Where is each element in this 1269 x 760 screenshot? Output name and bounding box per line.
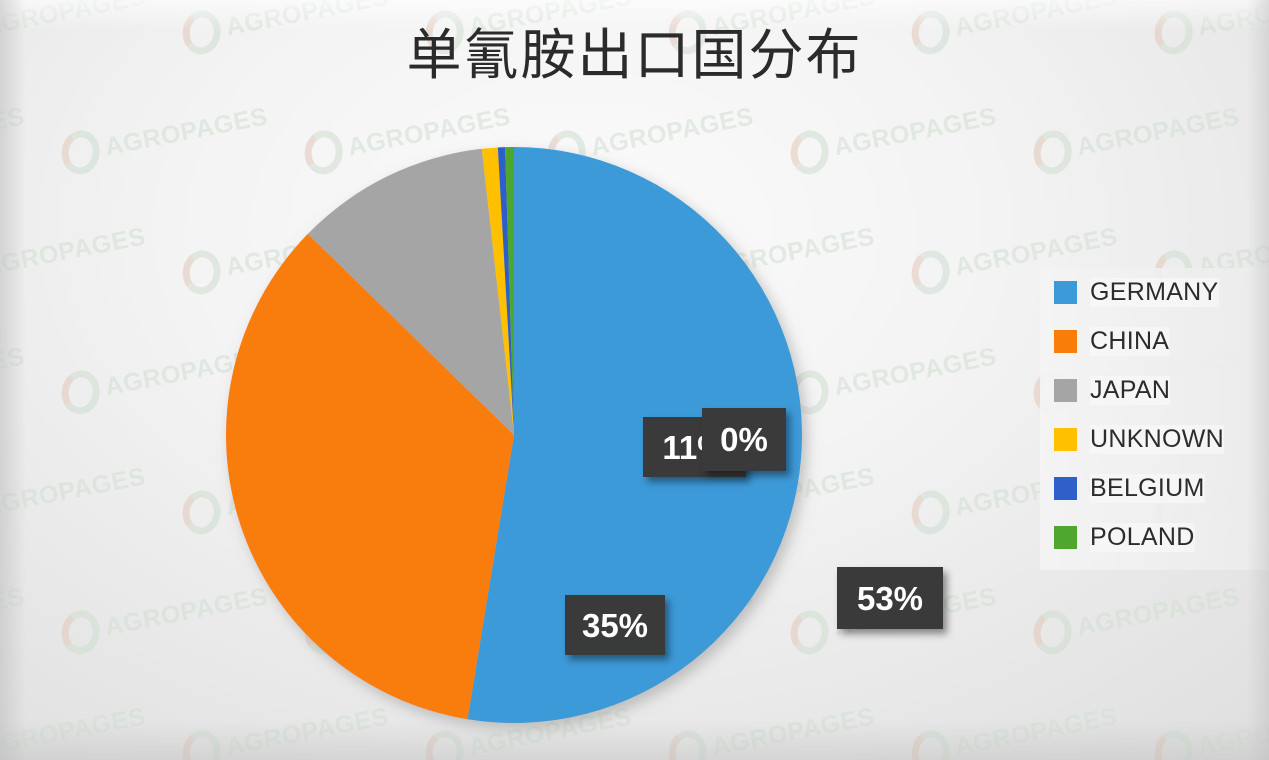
agropages-logo-icon xyxy=(180,728,223,760)
agropages-logo-icon xyxy=(59,128,102,176)
agropages-logo-icon xyxy=(59,608,102,656)
watermark-text: AGROPAGES xyxy=(1074,102,1242,162)
legend-label: GERMANY xyxy=(1090,278,1219,307)
watermark-text: AGROPAGES xyxy=(1074,582,1242,642)
data-label-china: 35% xyxy=(565,595,665,655)
legend-swatch-icon xyxy=(1054,281,1077,304)
legend-swatch-icon xyxy=(1054,526,1077,549)
watermark: AGROPAGES xyxy=(0,94,29,177)
watermark-text: AGROPAGES xyxy=(0,342,27,402)
agropages-logo-icon xyxy=(1031,608,1074,656)
legend-label: CHINA xyxy=(1090,327,1169,356)
agropages-logo-icon xyxy=(909,248,952,296)
data-label-unknown: 0% xyxy=(702,408,786,471)
legend-label: JAPAN xyxy=(1090,376,1170,405)
legend-label: BELGIUM xyxy=(1090,474,1205,503)
watermark: AGROPAGES xyxy=(787,334,1001,417)
agropages-logo-icon xyxy=(180,488,223,536)
legend-item-poland[interactable]: POLAND xyxy=(1040,513,1269,562)
agropages-logo-icon xyxy=(1031,128,1074,176)
watermark-text: AGROPAGES xyxy=(0,582,27,642)
legend-swatch-icon xyxy=(1054,330,1077,353)
watermark: AGROPAGES xyxy=(0,454,150,537)
watermark: AGROPAGES xyxy=(0,694,150,760)
legend-swatch-icon xyxy=(1054,379,1077,402)
watermark: AGROPAGES xyxy=(0,574,29,657)
legend-swatch-icon xyxy=(1054,428,1077,451)
watermark: AGROPAGES xyxy=(1030,574,1244,657)
watermark-text: AGROPAGES xyxy=(0,462,148,522)
legend-label: POLAND xyxy=(1090,523,1195,552)
watermark-text: AGROPAGES xyxy=(831,102,999,162)
agropages-logo-icon xyxy=(59,368,102,416)
watermark-text: AGROPAGES xyxy=(0,102,27,162)
legend-item-unknown[interactable]: UNKNOWN xyxy=(1040,415,1269,464)
legend-label: UNKNOWN xyxy=(1090,425,1224,454)
legend-item-belgium[interactable]: BELGIUM xyxy=(1040,464,1269,513)
agropages-logo-icon xyxy=(180,248,223,296)
watermark-text: AGROPAGES xyxy=(0,702,148,760)
agropages-logo-icon xyxy=(909,728,952,760)
chart-legend: GERMANYCHINAJAPANUNKNOWNBELGIUMPOLAND xyxy=(1040,268,1269,570)
watermark: AGROPAGES xyxy=(0,334,29,417)
pie-chart: 11% 0% 35% 53% xyxy=(224,145,804,725)
data-label-germany: 53% xyxy=(837,567,943,629)
watermark-text: AGROPAGES xyxy=(952,702,1120,760)
agropages-logo-icon xyxy=(423,728,466,760)
watermark-text: AGROPAGES xyxy=(1195,702,1269,760)
watermark: AGROPAGES xyxy=(787,94,1001,177)
chart-canvas: AGROPAGESAGROPAGESAGROPAGESAGROPAGESAGRO… xyxy=(0,0,1269,760)
chart-title: 单氰胺出口国分布 xyxy=(0,22,1269,88)
watermark: AGROPAGES xyxy=(908,694,1122,760)
legend-item-china[interactable]: CHINA xyxy=(1040,317,1269,366)
agropages-logo-icon xyxy=(1152,728,1195,760)
legend-item-japan[interactable]: JAPAN xyxy=(1040,366,1269,415)
legend-swatch-icon xyxy=(1054,477,1077,500)
watermark: AGROPAGES xyxy=(0,214,150,297)
watermark-text: AGROPAGES xyxy=(831,342,999,402)
watermark: AGROPAGES xyxy=(1151,694,1269,760)
watermark: AGROPAGES xyxy=(1030,94,1244,177)
legend-item-germany[interactable]: GERMANY xyxy=(1040,268,1269,317)
agropages-logo-icon xyxy=(666,728,709,760)
agropages-logo-icon xyxy=(909,488,952,536)
watermark-text: AGROPAGES xyxy=(0,222,148,282)
